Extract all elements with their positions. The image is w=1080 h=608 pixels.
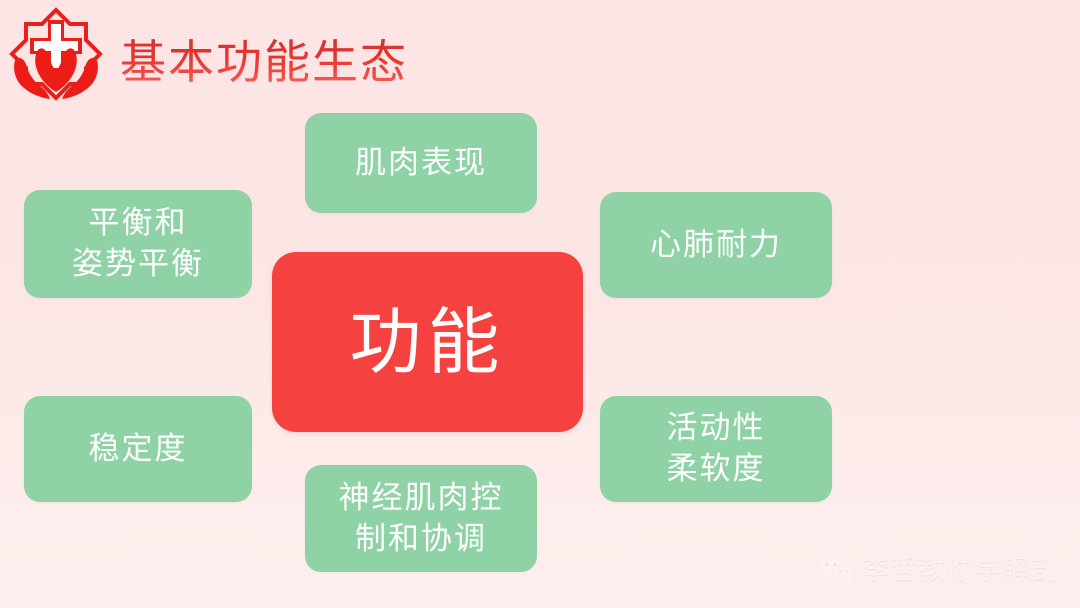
watermark-text: 李哲教你学解剖: [862, 556, 1058, 586]
diagram-node-label: 平衡和 姿势平衡: [24, 203, 252, 285]
diagram-node-mobility[interactable]: 活动性 柔软度: [600, 396, 832, 502]
diagram-node-label: 心肺耐力: [600, 225, 832, 266]
watermark: 李哲教你学解剖: [819, 556, 1058, 586]
diagram-node-balance[interactable]: 平衡和 姿势平衡: [24, 190, 252, 298]
diagram-center-label: 功能: [272, 301, 583, 383]
diagram-node-stability[interactable]: 稳定度: [24, 396, 252, 502]
diagram-node-neuromuscular[interactable]: 神经肌肉控 制和协调: [305, 465, 537, 572]
diagram-node-cardio[interactable]: 心肺耐力: [600, 192, 832, 298]
diagram-node-muscle[interactable]: 肌肉表现: [305, 113, 537, 213]
page-title: 基本功能生态: [120, 33, 408, 91]
slide-canvas: 基本功能生态 肌肉表现 平衡和 姿势平衡 心肺耐力 功能 稳定度 活动性 柔软度…: [0, 0, 1080, 608]
diagram-node-label: 活动性 柔软度: [600, 408, 832, 490]
slide-header: 基本功能生态: [0, 0, 1080, 108]
diagram-node-label: 稳定度: [24, 429, 252, 470]
medical-cross-in-hands-logo: [8, 6, 104, 102]
diagram-center-node-function[interactable]: 功能: [272, 252, 583, 432]
diagram-node-label: 肌肉表现: [305, 143, 537, 184]
wechat-icon: [819, 556, 853, 586]
diagram-node-label: 神经肌肉控 制和协调: [305, 478, 537, 560]
